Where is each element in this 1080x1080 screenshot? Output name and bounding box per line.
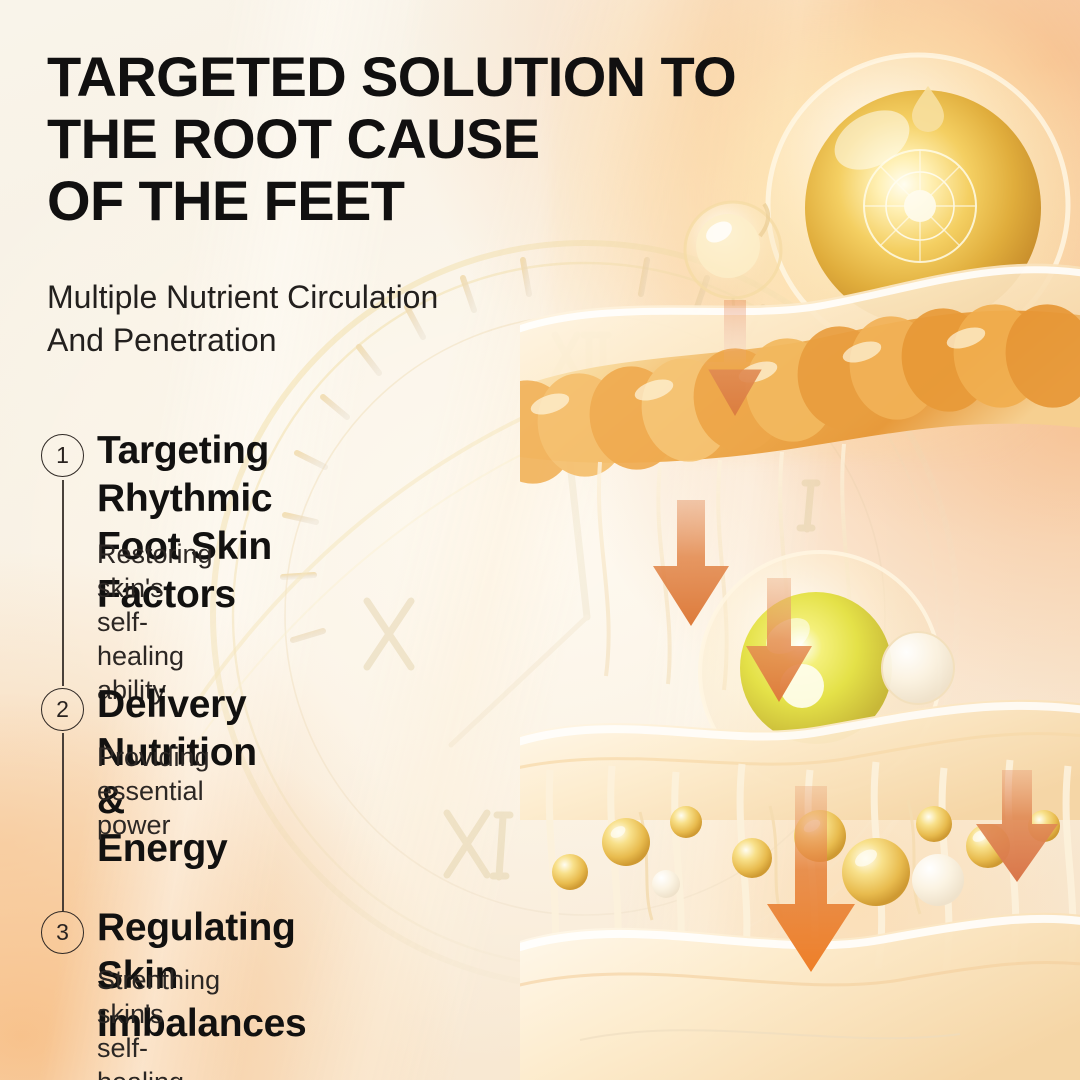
step-connector-line-2	[62, 733, 64, 911]
step-number-badge-2: 2	[41, 688, 84, 731]
step-subtitle-3: Strenthing skin's self-healing capacity	[97, 963, 220, 1080]
step-title-1-line-1: Targeting Rhythmic	[97, 427, 272, 523]
step-number-badge-3: 3	[41, 911, 84, 954]
step-subtitle-2: Providing essential power	[97, 740, 210, 842]
step-connector-line-1	[62, 480, 64, 686]
feature-step-list: 1 Targeting Rhythmic Foot Skin Factors R…	[0, 0, 1080, 1080]
poster-canvas: TARGETED SOLUTION TO THE ROOT CAUSE OF T…	[0, 0, 1080, 1080]
step-number-badge-1: 1	[41, 434, 84, 477]
